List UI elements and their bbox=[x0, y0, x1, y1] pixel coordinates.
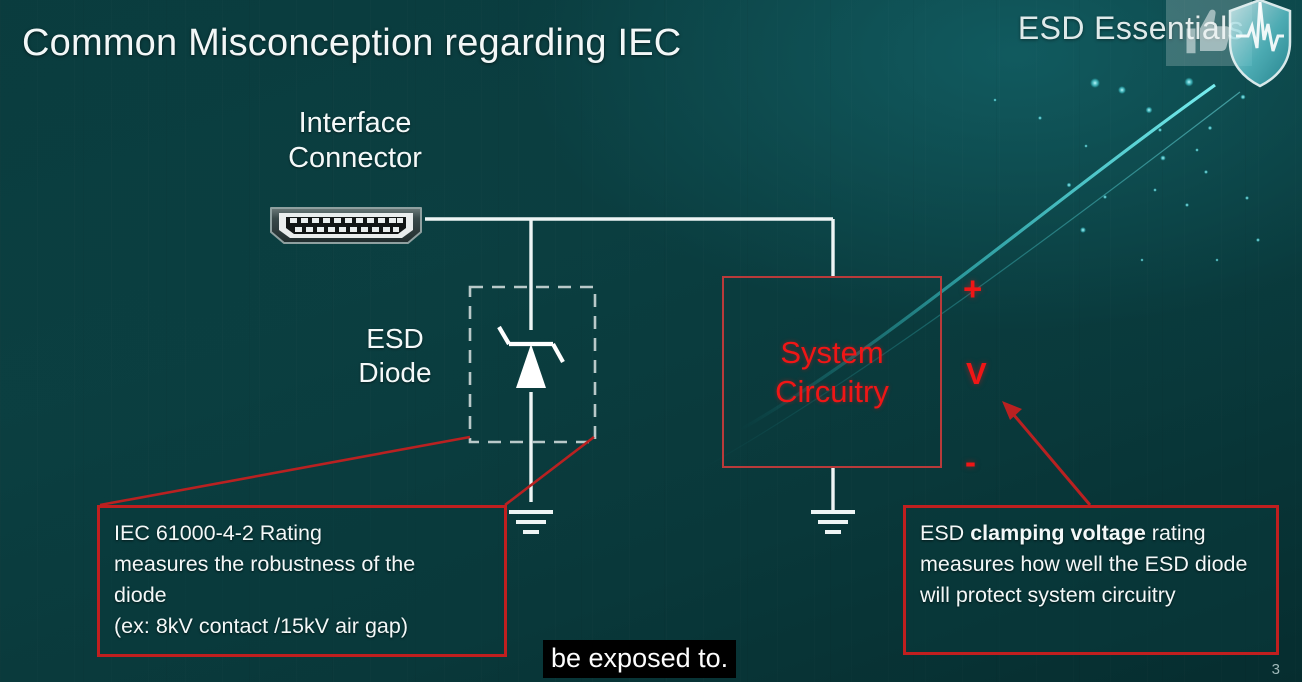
left-callout-leader bbox=[100, 437, 594, 505]
slide-canvas: Common Misconception regarding IEC ESD E… bbox=[0, 0, 1302, 682]
callout-clamping-voltage: ESD clamping voltage rating measures how… bbox=[903, 505, 1279, 655]
callout-left-line4: (ex: 8kV contact /15kV air gap) bbox=[114, 611, 490, 642]
voltage-plus-marker: + bbox=[963, 270, 982, 308]
system-circuitry-line1: System bbox=[780, 333, 883, 372]
callout-left-line1: IEC 61000-4-2 Rating bbox=[114, 518, 490, 549]
voltage-minus-marker: - bbox=[965, 443, 976, 481]
callout-right-prefix: ESD bbox=[920, 521, 970, 545]
callout-right-bold: clamping voltage bbox=[970, 521, 1146, 545]
system-circuitry-line2: Circuitry bbox=[775, 372, 889, 411]
ground-symbol-icon bbox=[509, 512, 553, 532]
right-callout-arrow bbox=[1002, 401, 1090, 505]
video-caption: be exposed to. bbox=[543, 640, 736, 678]
ground-symbol-icon bbox=[811, 512, 855, 532]
system-circuitry-box: System Circuitry bbox=[722, 276, 942, 468]
callout-iec-rating: IEC 61000-4-2 Rating measures the robust… bbox=[97, 505, 507, 657]
callout-left-line3: diode bbox=[114, 580, 490, 611]
page-number: 3 bbox=[1272, 661, 1280, 678]
zener-diode-icon bbox=[499, 327, 563, 388]
voltage-symbol-label: V bbox=[966, 356, 987, 392]
callout-left-line2: measures the robustness of the bbox=[114, 549, 490, 580]
